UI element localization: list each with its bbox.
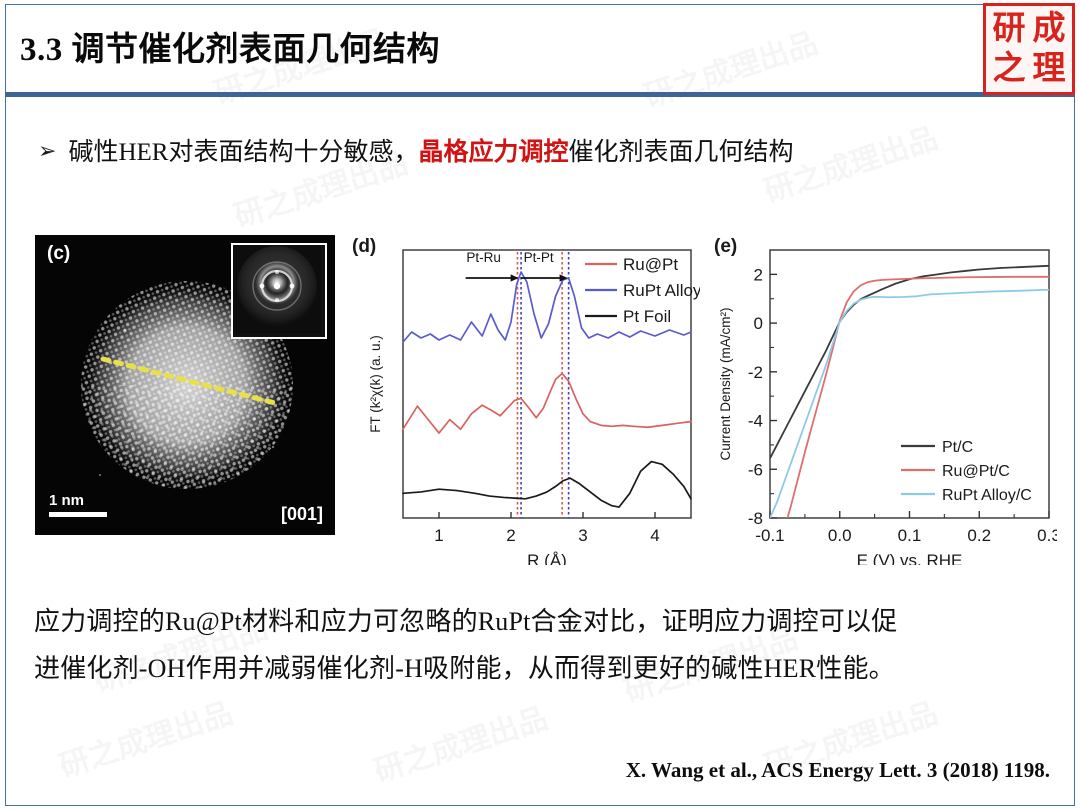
watermark-text: 研之成理出品 xyxy=(638,18,823,115)
chart-e-yticklabel: 2 xyxy=(754,265,763,284)
chart-e-xlabel: E (V) vs. RHE xyxy=(857,551,963,565)
chart-d-xlabel: R (Å) xyxy=(527,551,567,565)
chart-e-yticklabel: 0 xyxy=(754,314,763,333)
chart-e-yticklabel: -4 xyxy=(748,412,763,431)
brand-seal-stamp: 研 成 之 理 xyxy=(983,3,1075,95)
seal-char: 成 xyxy=(1029,9,1069,49)
chart-e-series-RuPtC xyxy=(787,277,1049,518)
seal-char: 研 xyxy=(989,9,1029,49)
slide-root: 研之成理出品 研之成理出品 研之成理出品 研之成理出品 研之成理出品 研之成理出… xyxy=(0,0,1080,810)
summary-line-1: 应力调控的Ru@Pt材料和应力可忽略的RuPt合金对比，证明应力调控可以促 xyxy=(34,598,1046,645)
chart-d-legend-label: RuPt Alloy xyxy=(623,281,700,300)
watermark-text: 研之成理出品 xyxy=(53,688,238,785)
bullet-text-part2: 催化剂表面几何结构 xyxy=(568,139,793,166)
chart-d-annotation-label: Pt-Pt xyxy=(524,250,554,265)
bullet-highlight: 晶格应力调控 xyxy=(418,139,568,166)
chart-e-legend-label: RuPt Alloy/C xyxy=(942,487,1032,504)
chart-e-series-RuPtAlloyC xyxy=(770,290,1049,518)
chart-e-xticklabel: 0.0 xyxy=(828,526,852,545)
chart-d-legend-label: Pt Foil xyxy=(623,307,671,326)
zone-axis-label: [001] xyxy=(281,504,323,525)
chart-d-series-RuPt xyxy=(403,374,691,434)
seal-char: 理 xyxy=(1029,49,1069,89)
page-title: 3.3 调节催化剂表面几何结构 xyxy=(20,22,440,70)
chart-d-annotation-label: Pt-Ru xyxy=(466,250,501,265)
watermark-text: 研之成理出品 xyxy=(368,693,553,790)
chart-e-yticklabel: -6 xyxy=(748,460,763,479)
bullet-arrow-icon: ➢ xyxy=(38,138,56,164)
chart-e-xticklabel: -0.1 xyxy=(755,526,784,545)
chart-e-xticklabel: 0.1 xyxy=(898,526,922,545)
figure-band: (c) [001] 1 nm (d)FT (k²χ(k) (a. u.)1234… xyxy=(0,230,1080,570)
chart-d-xticklabel: 2 xyxy=(506,526,515,545)
bullet-text-part1: 碱性HER对表面结构十分敏感， xyxy=(68,139,418,166)
panel-tag-c: (c) xyxy=(47,243,70,265)
chart-e-yticklabel: -2 xyxy=(748,363,763,382)
chart-e-xticklabel: 0.2 xyxy=(967,526,991,545)
lsv-polarization-chart: (e)Current Density (mA/cm²)20-2-4-6-8-0.… xyxy=(712,230,1057,565)
chart-e-ylabel: Current Density (mA/cm²) xyxy=(718,307,733,460)
title-underline-rule xyxy=(5,92,1075,97)
chart-panel-d: (d)FT (k²χ(k) (a. u.)1234R (Å)Pt-RuPt-Pt… xyxy=(350,230,700,565)
chart-panel-e: (e)Current Density (mA/cm²)20-2-4-6-8-0.… xyxy=(712,230,1057,565)
fft-inset-panel xyxy=(231,243,327,339)
exafs-ft-chart: (d)FT (k²χ(k) (a. u.)1234R (Å)Pt-RuPt-Pt… xyxy=(350,230,700,565)
chart-e-legend-label: Pt/C xyxy=(942,439,973,456)
chart-d-legend-label: Ru@Pt xyxy=(623,255,678,274)
panel-tag-d: (d) xyxy=(352,236,376,257)
tem-micrograph-panel: (c) [001] 1 nm xyxy=(35,235,335,535)
seal-char: 之 xyxy=(989,49,1029,89)
chart-d-ylabel: FT (k²χ(k) (a. u.) xyxy=(368,335,383,433)
chart-d-xticklabel: 3 xyxy=(578,526,587,545)
chart-d-series-PtFoil xyxy=(403,462,691,508)
panel-tag-e: (e) xyxy=(714,236,737,257)
chart-d-xticklabel: 4 xyxy=(650,526,659,545)
summary-line-2: 进催化剂-OH作用并减弱催化剂-H吸附能，从而得到更好的碱性HER性能。 xyxy=(34,645,1046,692)
scale-bar-label: 1 nm xyxy=(49,492,84,509)
summary-paragraph: 应力调控的Ru@Pt材料和应力可忽略的RuPt合金对比，证明应力调控可以促 进催… xyxy=(34,598,1046,692)
chart-d-xticklabel: 1 xyxy=(434,526,443,545)
chart-e-xticklabel: 0.3 xyxy=(1037,526,1057,545)
citation-reference: X. Wang et al., ACS Energy Lett. 3 (2018… xyxy=(626,758,1050,783)
chart-e-legend-label: Ru@Pt/C xyxy=(942,463,1010,480)
scale-bar xyxy=(49,512,107,517)
bullet-line: ➢碱性HER对表面结构十分敏感，晶格应力调控催化剂表面几何结构 xyxy=(38,132,793,168)
fft-pattern-image xyxy=(233,245,321,333)
